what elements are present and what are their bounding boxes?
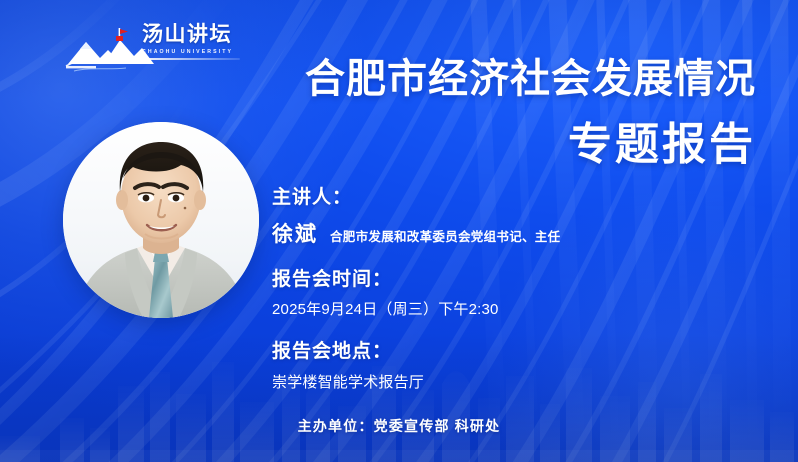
time-label: 报告会时间：: [272, 268, 692, 293]
organizer-line: 主办单位：党委宣传部 科研处: [0, 416, 798, 436]
speaker-title: 合肥市发展和改革委员会党组书记、主任: [330, 226, 560, 245]
poster-title: 合肥市经济社会发展情况 专题报告: [305, 58, 756, 169]
logo-name-en: CHAOHU UNIVERSITY: [142, 50, 242, 55]
place-label: 报告会地点：: [272, 340, 692, 365]
speaker-portrait: [63, 122, 259, 318]
title-line-2: 专题报告: [305, 121, 756, 169]
time-value: 2025年9月24日（周三）下午2:30: [272, 300, 692, 320]
brand-logo[interactable]: 汤山讲坛 CHAOHU UNIVERSITY: [64, 22, 240, 74]
event-poster: 汤山讲坛 CHAOHU UNIVERSITY 合肥市经济社会发展情况 专题报告: [0, 0, 798, 462]
speaker-label: 主讲人：: [272, 186, 692, 211]
place-value: 崇学楼智能学术报告厅: [272, 373, 692, 393]
logo-name-cn: 汤山讲坛: [142, 24, 242, 45]
speaker-name: 徐斌: [272, 218, 318, 248]
logo-underline: [142, 58, 240, 60]
title-line-1: 合肥市经济社会发展情况: [305, 58, 756, 101]
event-details: 主讲人： 徐斌 合肥市发展和改革委员会党组书记、主任 报告会时间： 2025年9…: [272, 186, 692, 392]
speaker-photo: [63, 122, 259, 318]
speaker-row: 徐斌 合肥市发展和改革委员会党组书记、主任: [272, 218, 692, 248]
logo-text-group: 汤山讲坛 CHAOHU UNIVERSITY: [142, 24, 242, 55]
